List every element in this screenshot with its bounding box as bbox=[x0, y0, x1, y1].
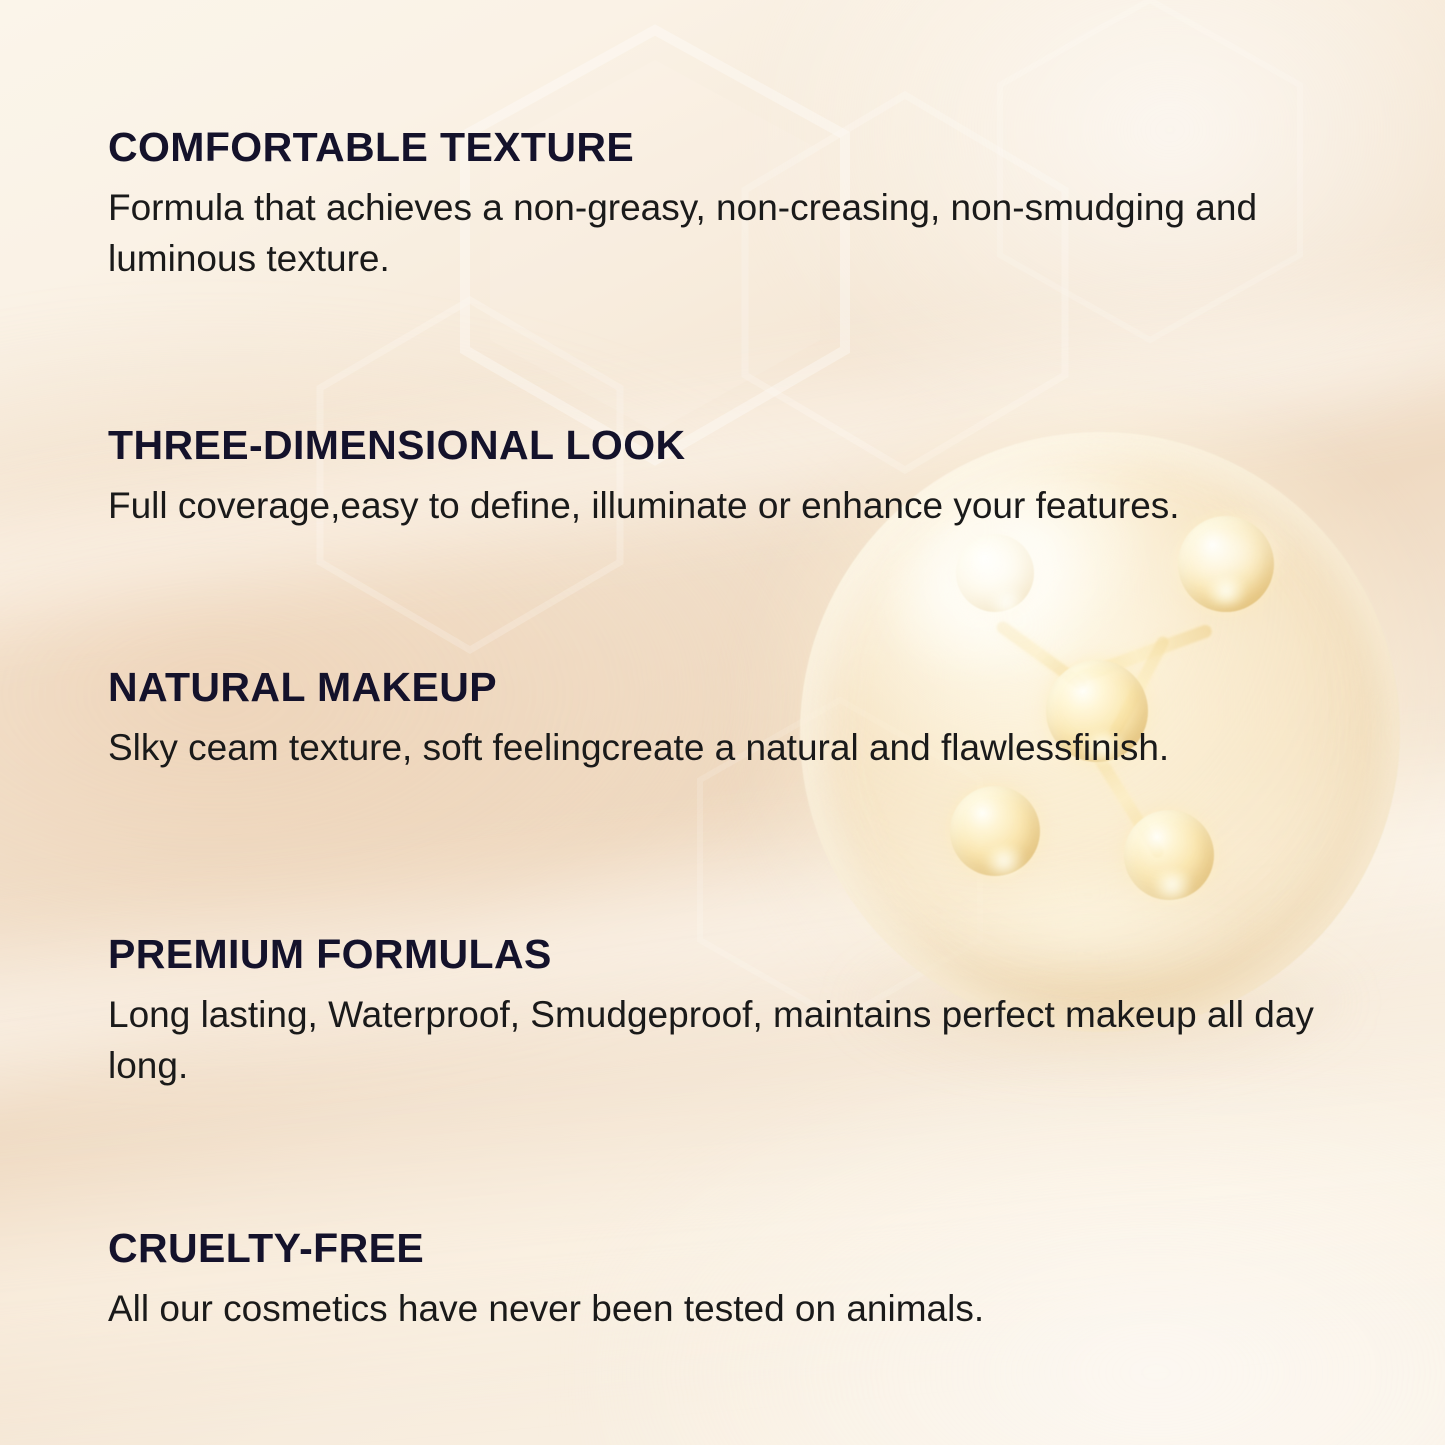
product-feature-poster: COMFORTABLE TEXTURE Formula that achieve… bbox=[0, 0, 1445, 1445]
feature-title: CRUELTY-FREE bbox=[108, 1226, 984, 1272]
feature-list: COMFORTABLE TEXTURE Formula that achieve… bbox=[0, 0, 1445, 1445]
feature-description: Formula that achieves a non-greasy, non-… bbox=[108, 183, 1363, 284]
feature-description: Full coverage,easy to define, illuminate… bbox=[108, 481, 1180, 532]
feature-item-natural-makeup: NATURAL MAKEUP Slky ceam texture, soft f… bbox=[108, 665, 1169, 774]
feature-item-premium-formulas: PREMIUM FORMULAS Long lasting, Waterproo… bbox=[108, 932, 1363, 1091]
feature-item-three-dimensional-look: THREE-DIMENSIONAL LOOK Full coverage,eas… bbox=[108, 423, 1180, 532]
feature-title: THREE-DIMENSIONAL LOOK bbox=[108, 423, 1180, 469]
feature-item-comfortable-texture: COMFORTABLE TEXTURE Formula that achieve… bbox=[108, 125, 1363, 284]
feature-title: NATURAL MAKEUP bbox=[108, 665, 1169, 711]
feature-item-cruelty-free: CRUELTY-FREE All our cosmetics have neve… bbox=[108, 1226, 984, 1335]
feature-description: All our cosmetics have never been tested… bbox=[108, 1284, 984, 1335]
feature-title: COMFORTABLE TEXTURE bbox=[108, 125, 1363, 171]
feature-title: PREMIUM FORMULAS bbox=[108, 932, 1363, 978]
feature-description: Slky ceam texture, soft feelingcreate a … bbox=[108, 723, 1169, 774]
feature-description: Long lasting, Waterproof, Smudgeproof, m… bbox=[108, 990, 1363, 1091]
